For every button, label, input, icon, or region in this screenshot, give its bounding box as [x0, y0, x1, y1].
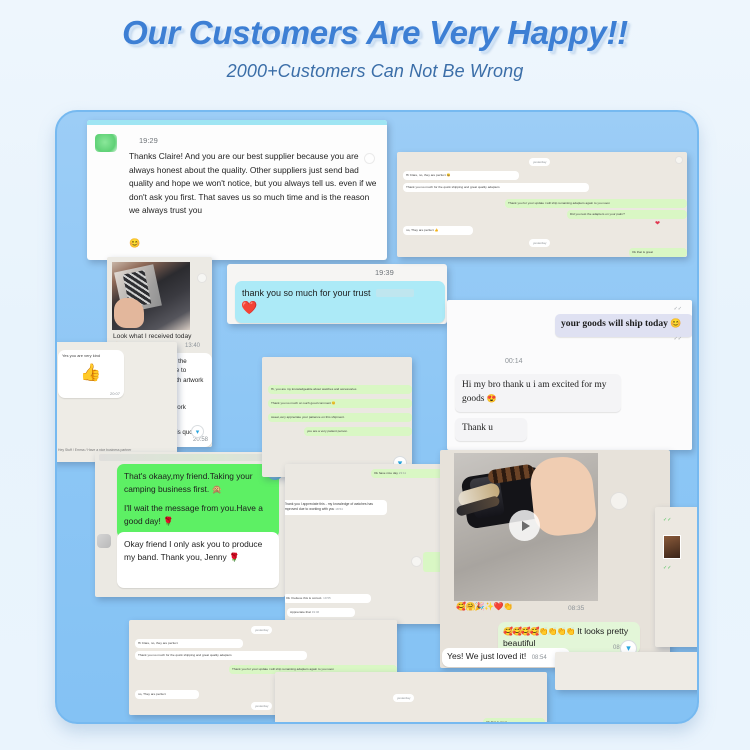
loved-it-time: 08:54	[532, 655, 547, 661]
perfect-line-3-text: Thank you for your update i will ship re…	[508, 201, 610, 205]
nice-day-time: 23:11	[399, 471, 406, 475]
perfect-line-2-text: Thank you so much for the quick shipping…	[138, 653, 232, 657]
green-camping-card[interactable]: That's okaay,my friend.Taking your campi…	[95, 452, 285, 597]
main-testimonial-card[interactable]: 19:29 Thanks Claire! And you are our bes…	[87, 120, 387, 260]
good-comment-text: Thank you so much on such good comment	[271, 401, 331, 405]
correct-time: 19:55	[323, 596, 331, 600]
delivered-icon-1: ✓✓	[674, 306, 682, 312]
loved-it-bubble[interactable]: Yes! We just loved it! 08:54	[442, 648, 570, 667]
appreciate-time: 18:54	[335, 507, 343, 511]
message-time: 19:29	[139, 136, 158, 145]
perfect-quality-card-top[interactable]: yesterday Hi Clare, no, they are perfect…	[397, 152, 687, 257]
reply-time: 19:39	[375, 268, 394, 277]
trust-message-bubble[interactable]: thank you so much for your trust	[235, 281, 445, 323]
camping-bubble[interactable]: That's okaay,my friend.Taking your campi…	[117, 464, 279, 538]
bottom-right-sliver-card[interactable]	[555, 652, 699, 690]
delivered-check-top: ✓✓	[663, 517, 671, 523]
camping-text: That's okaay,my friend.Taking your campi…	[124, 471, 253, 494]
page-subtitle: 2000+Customers Can Not Be Wrong	[0, 52, 750, 82]
watch-video-card[interactable]: 🥰🤗🎉✨❤️👏 08:35 🥰🥰🥰🥰👏👏👏👏 It looks pretty b…	[440, 450, 670, 668]
delivered-check-bottom: ✓✓	[663, 565, 671, 571]
reaction-circle-icon	[364, 153, 375, 164]
bands-photo[interactable]	[112, 262, 190, 330]
thank-u-text: Thank u	[462, 423, 493, 433]
ok-great-line[interactable]: Ok that is great	[483, 718, 545, 724]
perfect-line-5[interactable]: no, They are perfect 👍	[403, 226, 473, 235]
appreciate-that-bubble[interactable]: Appreciate that 19:46	[287, 608, 355, 617]
page-header: Our Customers Are Very Happy!! 2000+Cust…	[0, 0, 750, 82]
right-edge-chat-card[interactable]: ✓✓ ✓✓	[655, 507, 699, 647]
thumbnail-photo[interactable]	[663, 535, 681, 559]
smile-emoji: 😊	[129, 238, 140, 249]
perfect-line-6[interactable]: Ok that is great	[629, 248, 687, 257]
heart-eyes-emoji: 😍	[487, 394, 497, 403]
knowledgeable-text: Hi, you are my knowledgeable about watch…	[271, 387, 356, 391]
avatar	[95, 134, 117, 152]
contact-avatar	[97, 534, 111, 548]
perfect-line-2-text: Thank you so much for the quick shipping…	[406, 185, 500, 189]
perfect-line-4-text: Did you test the adapters on your palm?	[570, 212, 625, 216]
trust-message-text: thank you so much for your trust	[242, 288, 371, 298]
play-button-icon[interactable]	[509, 510, 540, 541]
delivered-icon-2: ✓✓	[674, 336, 682, 342]
day-pill-bottom: yesterday	[251, 702, 272, 710]
card-header-bar	[87, 120, 387, 125]
knowledgeable-line[interactable]: Hi, you are my knowledgeable about watch…	[268, 385, 412, 394]
correct-bubble[interactable]: Ok I believe this is correct. 19:55	[285, 594, 371, 603]
grin-emoji: 😃	[446, 173, 450, 177]
nice-day-bubble[interactable]: Ok have nice day 23:11	[371, 469, 447, 478]
page-title: Our Customers Are Very Happy!!	[0, 0, 750, 52]
rose-emoji-2: 🌹	[229, 552, 239, 562]
excited-bubble[interactable]: Hi my bro thank u i am excited for my go…	[455, 374, 621, 412]
patience-text: sweet,very appreciate your patience on t…	[271, 415, 345, 419]
ship-today-text: your goods will ship today	[561, 318, 668, 329]
day-pill-bottom: yesterday	[529, 239, 550, 247]
monkey-emoji: 🙊	[212, 484, 222, 494]
testimonial-board: 19:29 Thanks Claire! And you are our bes…	[55, 110, 699, 724]
perfect-line-1[interactable]: Hi Clare, no, they are perfect 😃	[403, 171, 519, 180]
perfect-line-2[interactable]: Thank you so much for the quick shipping…	[403, 183, 589, 192]
menu-dot-icon[interactable]	[675, 156, 683, 164]
produce-band-text: Okay friend I only ask you to produce my…	[124, 539, 262, 562]
perfect-line-6-text: Ok that is great	[632, 250, 653, 254]
trust-reply-card[interactable]: 19:39 thank you so much for your trust ❤…	[227, 264, 447, 324]
rose-emoji: 🌹	[163, 516, 173, 526]
perfect-line-3-text: Thank you for your update i will ship re…	[232, 667, 334, 671]
perfect-line-1-text: Hi Clare, no, they are perfect	[138, 641, 178, 645]
thumbs-up-card[interactable]: Yes you are very kind 👍 20:07 Hey Stuff …	[55, 342, 177, 462]
ship-today-card[interactable]: ✓✓ your goods will ship today 😊 ✓✓ 00:14…	[447, 300, 692, 450]
scroll-down-icon[interactable]: ▾	[191, 425, 204, 438]
bottom-tail-card[interactable]: yesterday Ok that is great	[275, 672, 547, 724]
ok-great-text: Ok that is great	[486, 720, 507, 724]
beautiful-emoji: 🥰🥰🥰🥰👏👏👏👏	[503, 627, 575, 636]
smile-emoji: 😊	[670, 318, 681, 328]
day-pill-bottom: yesterday	[393, 694, 414, 702]
nice-day-text: Ok have nice day	[374, 471, 398, 475]
emoji-reaction-row: 🥰🤗🎉✨❤️👏	[456, 602, 513, 611]
perfect-line-5-text: no, They are perfect	[138, 692, 166, 696]
ship-today-time: 00:14	[505, 358, 523, 365]
kind-message-bubble[interactable]: Yes you are very kind 👍 20:07	[58, 350, 124, 398]
perfect-line-5-text: no, They are perfect	[406, 228, 434, 232]
appreciate-bubble[interactable]: Thank you I appreciate this - my knowled…	[285, 500, 387, 515]
photo-caption: Look what I received today	[113, 333, 191, 340]
perfect-line-1[interactable]: Hi Clare, no, they are perfect	[135, 639, 243, 648]
appreciate-that-time: 19:46	[312, 610, 320, 614]
produce-band-bubble[interactable]: Okay friend I only ask you to produce my…	[117, 532, 279, 588]
patient-person-text: you are a very patient person.	[307, 429, 348, 433]
emoji-reaction-time: 08:35	[568, 605, 584, 612]
patient-person-line[interactable]: you are a very patient person.	[304, 427, 412, 436]
blurred-top-line	[99, 454, 281, 461]
thumbs-up-emoji: 👍	[62, 361, 120, 385]
play-voice-icon[interactable]	[411, 556, 422, 567]
message-text: Thanks Claire! And you are our best supp…	[129, 150, 379, 218]
good-comment-card[interactable]: Hi, you are my knowledgeable about watch…	[262, 357, 412, 477]
reaction-circle-icon	[197, 273, 207, 283]
kind-message-text: Yes you are very kind	[62, 353, 120, 359]
blurred-name	[376, 289, 414, 297]
forward-icon[interactable]	[610, 492, 628, 510]
thumbs-up-emoji: 👍	[435, 228, 439, 232]
heart-reaction-icon: ❤	[655, 220, 660, 227]
correct-text: Ok I believe this is correct.	[286, 596, 322, 600]
smile-emoji: 😊	[332, 401, 336, 405]
good-comment-line[interactable]: Thank you so much on such good comment 😊	[268, 399, 412, 408]
day-pill-top: yesterday	[251, 626, 272, 634]
excited-text: Hi my bro thank u i am excited for my go…	[462, 380, 607, 404]
perfect-line-3[interactable]: Thank you for your update i will ship re…	[505, 199, 687, 208]
sticker-time: 20:07	[110, 391, 120, 397]
appreciate-that-text: Appreciate that	[290, 610, 311, 614]
perfect-line-5[interactable]: no, They are perfect	[135, 690, 199, 699]
watch-video-thumbnail[interactable]	[454, 453, 598, 601]
thank-u-bubble[interactable]: Thank u	[455, 418, 527, 441]
knowledge-watches-card[interactable]: Ok have nice day 23:11 Thank you I appre…	[285, 464, 463, 624]
appreciate-text: Thank you I appreciate this - my knowled…	[285, 502, 373, 511]
perfect-line-4[interactable]: Did you test the adapters on your palm?	[567, 210, 687, 219]
perfect-line-1-text: Hi Clare, no, they are perfect	[406, 173, 446, 177]
perfect-line-2[interactable]: Thank you so much for the quick shipping…	[135, 651, 307, 660]
patience-line[interactable]: sweet,very appreciate your patience on t…	[268, 413, 412, 422]
heart-reaction: ❤️	[241, 300, 257, 316]
wait-message-text: I'll wait the message from you.Have a go…	[124, 503, 263, 526]
day-pill-top: yesterday	[529, 158, 550, 166]
caption-time: 13:40	[185, 343, 200, 349]
ship-today-bubble[interactable]: your goods will ship today 😊	[555, 314, 692, 337]
loved-it-text: Yes! We just loved it!	[447, 651, 526, 661]
